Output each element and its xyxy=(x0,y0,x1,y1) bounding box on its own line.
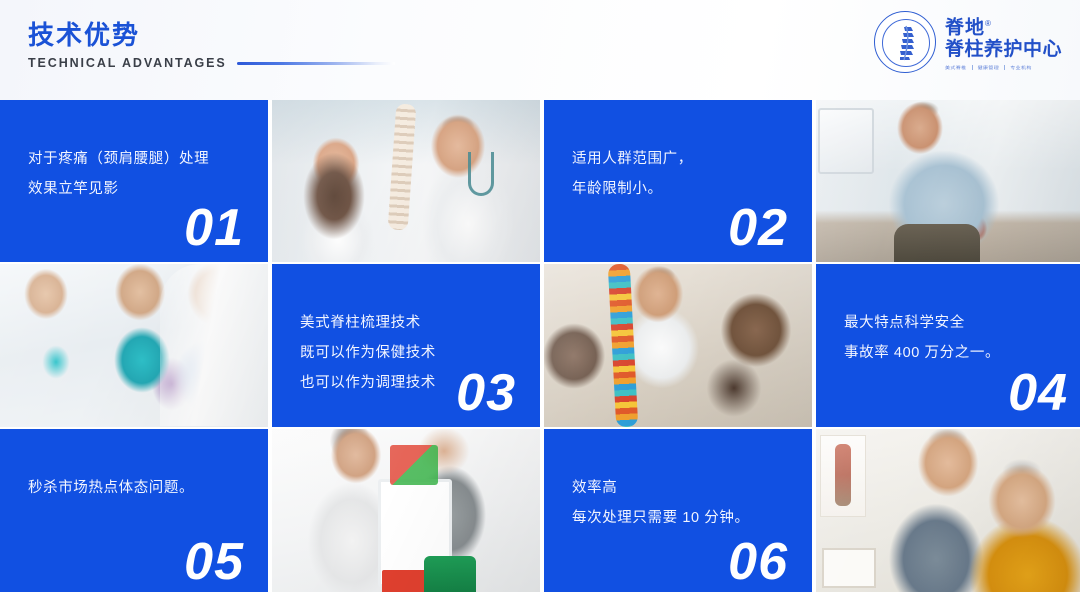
logo-tagline-seg-1: 美式脊椎 xyxy=(945,64,967,70)
photo-instructor-with-colorful-spine-model-and-children xyxy=(544,264,812,427)
advantage-card-06-line-1: 效率高 xyxy=(572,473,812,503)
photo-doctor-showing-spine-model-to-patient xyxy=(272,100,540,262)
logo-wordmark: 脊地® 脊柱养护中心 美式脊椎 健康管理 专业机构 xyxy=(945,13,1062,70)
photo-sheen xyxy=(544,264,812,427)
logo-tagline: 美式脊椎 健康管理 专业机构 xyxy=(945,64,1062,71)
page-subtitle-row: TECHNICAL ADVANTAGES xyxy=(28,56,395,70)
advantage-card-04[interactable]: 最大特点科学安全 事故率 400 万分之一。 04 xyxy=(816,264,1080,427)
child-shorts-icon xyxy=(424,556,476,592)
page-title-en: TECHNICAL ADVANTAGES xyxy=(28,56,227,70)
monitor-icon xyxy=(818,108,874,174)
logo-tagline-seg-3: 专业机构 xyxy=(1010,64,1032,70)
advantage-card-06-line-2: 每次处理只需要 10 分钟。 xyxy=(572,503,812,533)
spine-emblem-icon xyxy=(874,11,936,73)
office-chair-icon xyxy=(894,224,980,262)
logo-brand-text: 脊地 xyxy=(945,18,985,39)
advantage-card-05-number: 05 xyxy=(184,534,244,590)
advantages-grid: 对于疼痛（颈肩腰腿）处理 效果立竿见影 01 适用人群范围广， 年龄限制小。 0… xyxy=(0,100,1080,592)
advantage-card-05-line-1: 秒杀市场热点体态问题。 xyxy=(28,473,268,503)
advantage-card-06[interactable]: 效率高 每次处理只需要 10 分钟。 06 xyxy=(544,429,812,592)
page-title-cn: 技术优势 xyxy=(28,20,395,50)
photo-practitioner-treating-senior-mans-shoulder xyxy=(816,429,1080,592)
photo-therapist-checking-childs-posture xyxy=(272,429,540,592)
advantage-card-03-line-1: 美式脊柱梳理技术 xyxy=(300,308,540,338)
photo-office-worker-with-back-pain xyxy=(816,100,1080,262)
registered-mark-icon: ® xyxy=(985,19,992,28)
advantage-card-05[interactable]: 秒杀市场热点体态问题。 05 xyxy=(0,429,268,592)
logo-tagline-seg-2: 健康管理 xyxy=(978,64,1000,70)
slide-header: 技术优势 TECHNICAL ADVANTAGES xyxy=(0,0,1080,100)
logo-tagline-divider-2 xyxy=(1004,65,1005,70)
brand-logo: 脊地® 脊柱养护中心 美式脊椎 健康管理 专业机构 xyxy=(874,11,1062,73)
spine-glyph-icon xyxy=(875,12,937,74)
logo-subtitle-cn: 脊柱养护中心 xyxy=(945,39,1062,61)
wall-frame-icon xyxy=(822,548,876,588)
title-underline-icon xyxy=(237,62,395,65)
advantage-card-01[interactable]: 对于疼痛（颈肩腰腿）处理 效果立竿见影 01 xyxy=(0,100,268,262)
colorful-spine-model-icon xyxy=(608,264,639,427)
advantage-card-02-line-1: 适用人群范围广， xyxy=(572,144,812,174)
logo-brand-cn: 脊地® xyxy=(945,13,1062,38)
anatomy-poster-icon xyxy=(820,435,866,517)
advantage-card-02[interactable]: 适用人群范围广， 年龄限制小。 02 xyxy=(544,100,812,262)
advantage-card-02-number: 02 xyxy=(728,200,788,256)
advantage-card-03[interactable]: 美式脊柱梳理技术 既可以作为保健技术 也可以作为调理技术 03 xyxy=(272,264,540,427)
advantage-card-04-number: 04 xyxy=(1008,365,1068,421)
advantage-card-06-number: 06 xyxy=(728,534,788,590)
lab-coat-icon xyxy=(160,264,268,426)
logo-tagline-divider-1 xyxy=(972,65,973,70)
toy-blocks-icon xyxy=(390,445,438,485)
advantage-card-04-line-1: 最大特点科学安全 xyxy=(844,308,1080,338)
stethoscope-icon xyxy=(468,152,494,196)
slide-root: 技术优势 TECHNICAL ADVANTAGES xyxy=(0,0,1080,592)
photo-blurred-medical-team-in-white-coats xyxy=(0,264,268,427)
advantage-card-03-number: 03 xyxy=(456,365,516,421)
red-storage-box-icon xyxy=(382,570,426,592)
advantage-card-01-number: 01 xyxy=(184,200,244,256)
spine-model-icon xyxy=(388,103,417,230)
header-title-block: 技术优势 TECHNICAL ADVANTAGES xyxy=(28,20,395,70)
advantage-card-01-line-1: 对于疼痛（颈肩腰腿）处理 xyxy=(28,144,268,174)
